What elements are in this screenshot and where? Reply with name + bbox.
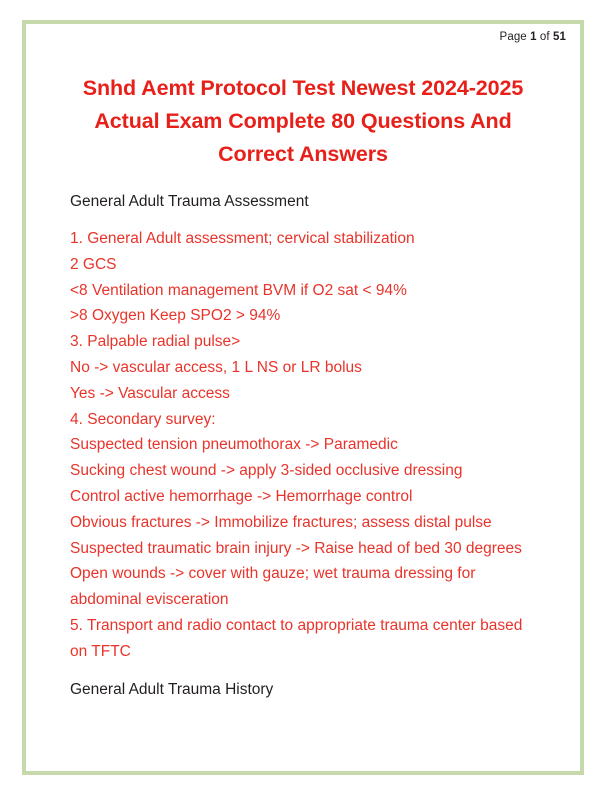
body-line: 1. General Adult assessment; cervical st… bbox=[70, 226, 536, 252]
body-line: Control active hemorrhage -> Hemorrhage … bbox=[70, 484, 536, 510]
body-line: >8 Oxygen Keep SPO2 > 94% bbox=[70, 303, 536, 329]
body-line: 2 GCS bbox=[70, 252, 536, 278]
body-line: 3. Palpable radial pulse> bbox=[70, 329, 536, 355]
body-line: Yes -> Vascular access bbox=[70, 381, 536, 407]
document-content: Snhd Aemt Protocol Test Newest 2024-2025… bbox=[70, 72, 536, 701]
page-number-middle: of bbox=[540, 31, 550, 43]
body-line: <8 Ventilation management BVM if O2 sat … bbox=[70, 278, 536, 304]
document-page: Page 1 of 51 Snhd Aemt Protocol Test New… bbox=[0, 0, 606, 800]
page-title: Snhd Aemt Protocol Test Newest 2024-2025… bbox=[70, 72, 536, 171]
page-number-prefix: Page bbox=[500, 31, 527, 43]
section-heading-trauma-assessment: General Adult Trauma Assessment bbox=[70, 191, 536, 213]
trauma-assessment-body: 1. General Adult assessment; cervical st… bbox=[70, 226, 536, 665]
body-line: 4. Secondary survey: bbox=[70, 407, 536, 433]
body-line: Open wounds -> cover with gauze; wet tra… bbox=[70, 561, 536, 613]
page-number-total: 51 bbox=[553, 31, 566, 43]
page-number-indicator: Page 1 of 51 bbox=[500, 31, 566, 43]
body-line: No -> vascular access, 1 L NS or LR bolu… bbox=[70, 355, 536, 381]
body-line: Sucking chest wound -> apply 3-sided occ… bbox=[70, 458, 536, 484]
body-line: 5. Transport and radio contact to approp… bbox=[70, 613, 536, 665]
page-number-current: 1 bbox=[530, 31, 537, 43]
body-line: Suspected traumatic brain injury -> Rais… bbox=[70, 536, 536, 562]
body-line: Obvious fractures -> Immobilize fracture… bbox=[70, 510, 536, 536]
section-heading-trauma-history: General Adult Trauma History bbox=[70, 679, 536, 701]
body-line: Suspected tension pneumothorax -> Parame… bbox=[70, 432, 536, 458]
